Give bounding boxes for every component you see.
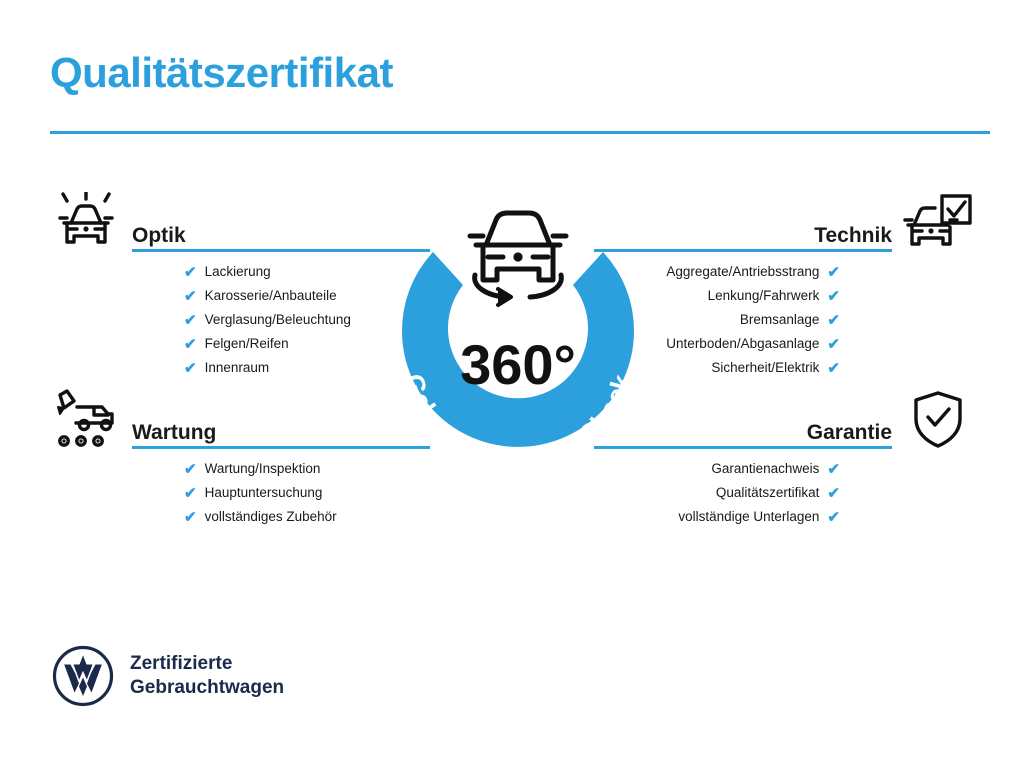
list-item-label: vollständige Unterlagen xyxy=(678,510,819,524)
service-pen-car-icon xyxy=(50,389,122,451)
list-item-label: Bremsanlage xyxy=(740,313,820,327)
list-item-label: vollständiges Zubehör xyxy=(205,510,337,524)
check-icon: ✔ xyxy=(184,313,197,328)
list-item-label: Hauptuntersuchung xyxy=(205,486,323,500)
list-item-label: Felgen/Reifen xyxy=(205,337,289,351)
list-item: ✔ Wartung/Inspektion xyxy=(50,457,430,481)
section-technik-title: Technik xyxy=(814,225,892,246)
car-rotation-icon xyxy=(470,213,566,305)
check-icon: ✔ xyxy=(184,486,197,501)
section-optik-list: ✔ Lackierung ✔ Karosserie/Anbauteile ✔ V… xyxy=(50,260,430,380)
list-item: ✔ Karosserie/Anbauteile xyxy=(50,284,430,308)
footer-line-1: Zertifizierte xyxy=(130,652,284,676)
check-icon: ✔ xyxy=(184,289,197,304)
list-item-label: Garantienachweis xyxy=(711,462,819,476)
badge-center-text: 360° xyxy=(460,333,576,396)
shield-check-icon xyxy=(902,389,974,451)
title-divider xyxy=(50,131,990,134)
check-icon: ✔ xyxy=(827,265,840,280)
check-icon: ✔ xyxy=(827,510,840,525)
check-icon: ✔ xyxy=(827,289,840,304)
check-icon: ✔ xyxy=(827,462,840,477)
badge-360-gebrauchtwagen-check: Gebrauchtwagen-Check 360° xyxy=(378,192,658,484)
section-wartung-title: Wartung xyxy=(132,422,216,443)
check-icon: ✔ xyxy=(184,265,197,280)
list-item: ✔ Lackierung xyxy=(50,260,430,284)
section-optik-header: Optik xyxy=(50,198,430,260)
check-icon: ✔ xyxy=(184,337,197,352)
list-item-label: Innenraum xyxy=(205,361,270,375)
section-wartung-list: ✔ Wartung/Inspektion ✔ Hauptuntersuchung… xyxy=(50,457,430,529)
list-item: ✔ Hauptuntersuchung xyxy=(50,481,430,505)
check-icon: ✔ xyxy=(184,462,197,477)
list-item: ✔ vollständiges Zubehör xyxy=(50,505,430,529)
footer-branding: Zertifizierte Gebrauchtwagen xyxy=(52,645,284,707)
list-item: vollständige Unterlagen ✔ xyxy=(594,505,974,529)
section-optik-title: Optik xyxy=(132,225,186,246)
page-title: Qualitätszertifikat xyxy=(50,52,393,94)
list-item-label: Unterboden/Abgasanlage xyxy=(666,337,819,351)
check-icon: ✔ xyxy=(827,361,840,376)
car-front-lights-icon xyxy=(50,192,122,254)
check-icon: ✔ xyxy=(184,510,197,525)
list-item-label: Aggregate/Antriebsstrang xyxy=(666,265,819,279)
section-optik: Optik ✔ Lackierung ✔ Karosserie/Anbautei… xyxy=(50,198,430,380)
list-item: ✔ Innenraum xyxy=(50,356,430,380)
section-wartung-header: Wartung xyxy=(50,395,430,457)
vw-logo-icon xyxy=(52,645,114,707)
check-icon: ✔ xyxy=(827,486,840,501)
list-item-label: Lenkung/Fahrwerk xyxy=(708,289,820,303)
check-icon: ✔ xyxy=(184,361,197,376)
list-item-label: Verglasung/Beleuchtung xyxy=(205,313,351,327)
list-item-label: Wartung/Inspektion xyxy=(205,462,321,476)
list-item: Qualitätszertifikat ✔ xyxy=(594,481,974,505)
footer-text: Zertifizierte Gebrauchtwagen xyxy=(130,652,284,701)
footer-line-2: Gebrauchtwagen xyxy=(130,676,284,700)
list-item-label: Karosserie/Anbauteile xyxy=(205,289,337,303)
check-icon: ✔ xyxy=(827,337,840,352)
list-item-label: Sicherheit/Elektrik xyxy=(711,361,819,375)
car-checkbox-icon xyxy=(902,192,974,254)
section-garantie-title: Garantie xyxy=(807,422,892,443)
list-item-label: Lackierung xyxy=(205,265,271,279)
list-item: ✔ Verglasung/Beleuchtung xyxy=(50,308,430,332)
section-wartung: Wartung ✔ Wartung/Inspektion ✔ Hauptunte… xyxy=(50,395,430,529)
list-item-label: Qualitätszertifikat xyxy=(716,486,820,500)
check-icon: ✔ xyxy=(827,313,840,328)
list-item: ✔ Felgen/Reifen xyxy=(50,332,430,356)
